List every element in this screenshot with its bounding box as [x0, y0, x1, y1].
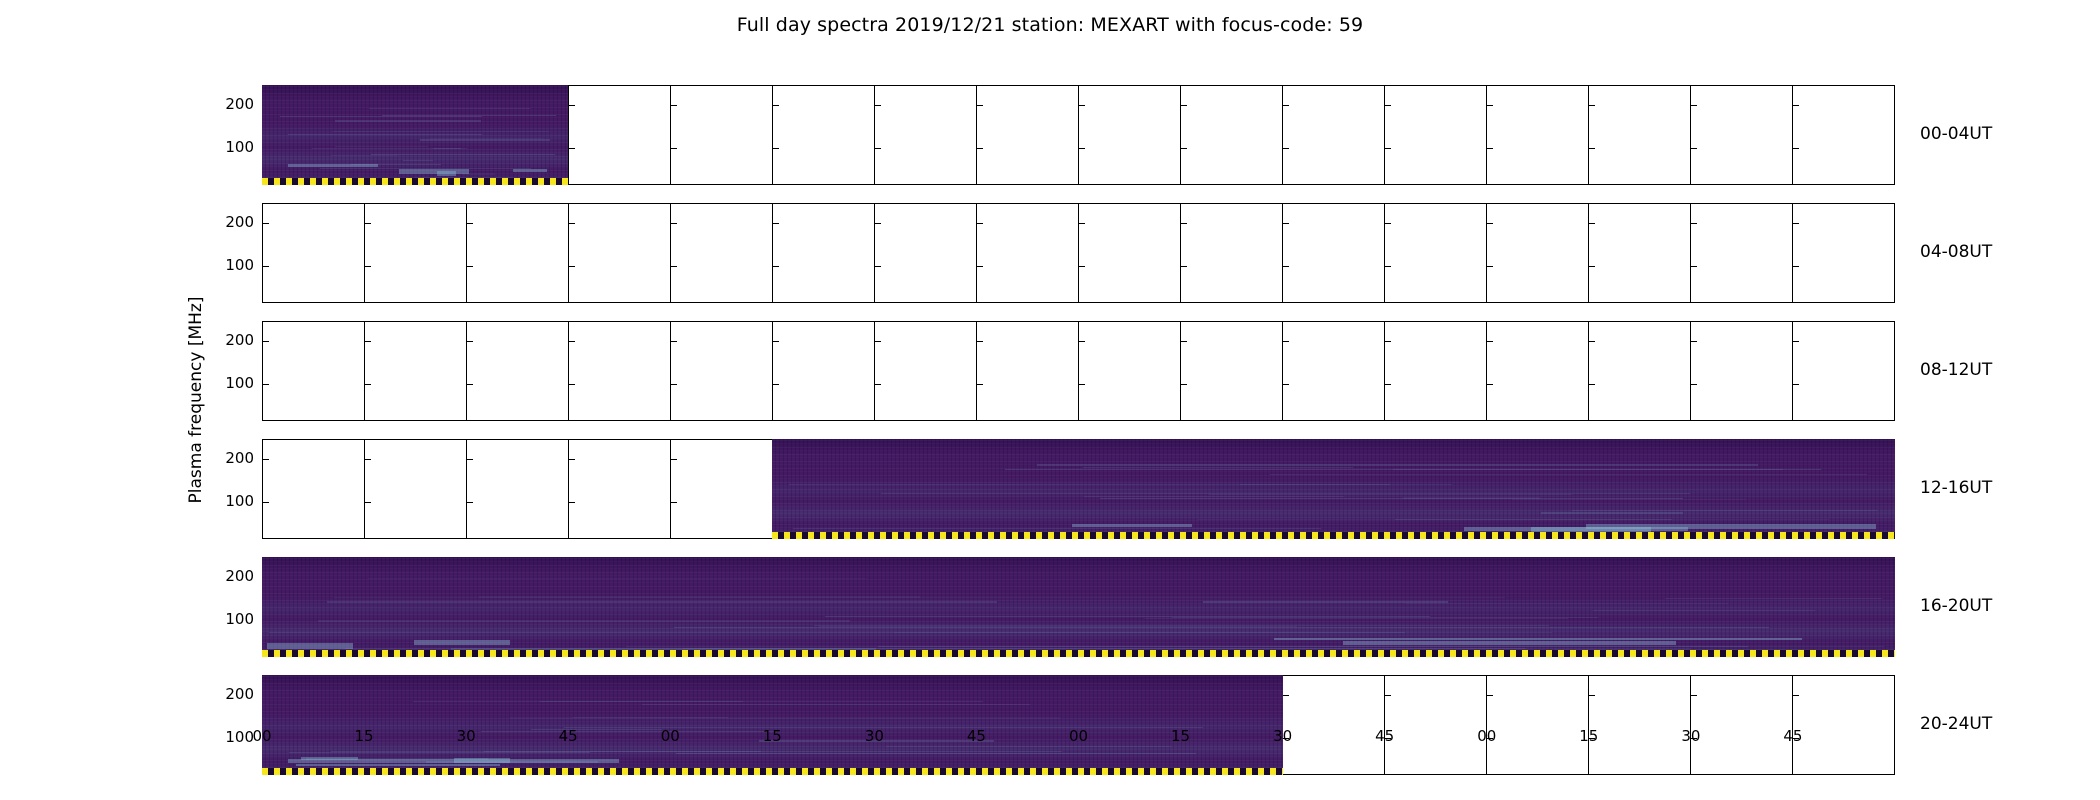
rfi-streaks: [772, 439, 1895, 539]
y-tick-100: [1793, 384, 1799, 385]
x-tick-label: 45: [1365, 727, 1405, 745]
y-tick-100: [1283, 266, 1289, 267]
spectrogram-cell[interactable]: [1384, 85, 1486, 185]
spectrogram-cell[interactable]: [1588, 321, 1690, 421]
spectrogram-cell[interactable]: [1282, 321, 1384, 421]
x-tick-label: 30: [854, 727, 894, 745]
spectrogram-cell[interactable]: [1690, 203, 1792, 303]
spectrogram-cell[interactable]: [772, 85, 874, 185]
spectrogram-cell[interactable]: [262, 203, 364, 303]
spectrogram-cell[interactable]: [568, 439, 670, 539]
spectrogram-cell[interactable]: [1180, 85, 1282, 185]
y-tick-100: [569, 384, 575, 385]
y-tick-100: [365, 502, 371, 503]
spectrogram-cell[interactable]: [1588, 203, 1690, 303]
y-tick-200: [365, 459, 371, 460]
y-tick-200: [671, 223, 677, 224]
spectrogram-cell[interactable]: [1792, 321, 1895, 421]
spectrogram-cell[interactable]: [568, 203, 670, 303]
y-tick-100: [365, 384, 371, 385]
y-tick-100: [1181, 266, 1187, 267]
y-tick-200: [1079, 341, 1085, 342]
y-tick-200: [1691, 105, 1697, 106]
y-tick-200: [773, 105, 779, 106]
y-tick-100: [569, 502, 575, 503]
y-tick-200: [569, 223, 575, 224]
y-tick-200: [671, 459, 677, 460]
spectrogram-cell[interactable]: [670, 439, 772, 539]
spectrogram-cell[interactable]: [1180, 321, 1282, 421]
figure-title: Full day spectra 2019/12/21 station: MEX…: [0, 14, 2100, 36]
y-tick-200: [773, 223, 779, 224]
y-tick-200: [1487, 695, 1493, 696]
row-panels: [262, 203, 1895, 303]
spectrogram-row-12-16ut[interactable]: [262, 439, 1895, 539]
spectrogram-cell[interactable]: [1078, 203, 1180, 303]
y-tick-200: [1283, 695, 1289, 696]
y-tick-100: [1589, 148, 1595, 149]
y-tick-100: [1385, 384, 1391, 385]
row-panels: [262, 321, 1895, 421]
spectrogram-cell[interactable]: [1078, 321, 1180, 421]
y-tick-label: 100: [206, 610, 254, 628]
x-tick-label: 30: [1671, 727, 1711, 745]
spectrogram-cell[interactable]: [1588, 675, 1690, 775]
y-tick-100: [671, 502, 677, 503]
y-tick-200: [365, 223, 371, 224]
y-tick-200: [1181, 223, 1187, 224]
y-axis-label: Plasma frequency [MHz]: [186, 297, 206, 504]
spectrogram-cell[interactable]: [1282, 675, 1384, 775]
y-tick-100: [773, 266, 779, 267]
spectrogram-cell[interactable]: [1486, 203, 1588, 303]
spectrogram-cell[interactable]: [1792, 203, 1895, 303]
spectrogram-cell[interactable]: [1588, 85, 1690, 185]
y-tick-200: [1793, 223, 1799, 224]
spectrogram-cell[interactable]: [772, 321, 874, 421]
y-tick-label: 200: [206, 95, 254, 113]
y-tick-200: [1487, 341, 1493, 342]
x-tick-label: 15: [1569, 727, 1609, 745]
spectrogram-cell[interactable]: [976, 203, 1078, 303]
y-tick-100: [365, 266, 371, 267]
spectrogram-data: [262, 85, 568, 185]
y-tick-200: [1793, 695, 1799, 696]
x-tick-label: 45: [548, 727, 588, 745]
spectrogram-cell[interactable]: [1792, 85, 1895, 185]
spectrogram-cell[interactable]: [874, 85, 976, 185]
y-tick-200: [467, 223, 473, 224]
y-tick-200: [1181, 105, 1187, 106]
y-tick-200: [1589, 341, 1595, 342]
spectrogram-cell[interactable]: [262, 439, 364, 539]
y-tick-label: 200: [206, 685, 254, 703]
y-tick-label: 200: [206, 213, 254, 231]
y-tick-200: [1385, 223, 1391, 224]
x-tick-label: 00: [1467, 727, 1507, 745]
spectrogram-row-00-04ut[interactable]: [262, 85, 1895, 185]
y-tick-200: [1793, 341, 1799, 342]
row-time-label: 08-12UT: [1920, 360, 1992, 380]
x-tick-label: 30: [1263, 727, 1303, 745]
y-tick-200: [1283, 223, 1289, 224]
y-tick-200: [773, 341, 779, 342]
spectrogram-cell[interactable]: [670, 321, 772, 421]
y-tick-100: [1079, 266, 1085, 267]
y-tick-100: [569, 266, 575, 267]
spectrogram-cell[interactable]: [670, 203, 772, 303]
y-tick-200: [875, 105, 881, 106]
y-tick-100: [773, 148, 779, 149]
y-tick-100: [1793, 266, 1799, 267]
spectrogram-cell[interactable]: [976, 85, 1078, 185]
y-tick-label: 100: [206, 374, 254, 392]
baseline-dashed-marker: [262, 178, 568, 185]
y-tick-200: [977, 223, 983, 224]
row-time-label: 12-16UT: [1920, 478, 1992, 498]
spectrogram-cell[interactable]: [466, 321, 568, 421]
spectrogram-cell[interactable]: [1792, 675, 1895, 775]
y-tick-100: [467, 502, 473, 503]
spectrogram-cell[interactable]: [466, 439, 568, 539]
spectrogram-cell[interactable]: [874, 321, 976, 421]
y-tick-100: [1691, 384, 1697, 385]
y-tick-200: [977, 341, 983, 342]
x-tick-label: 00: [650, 727, 690, 745]
y-tick-200: [1181, 341, 1187, 342]
spectrogram-cell[interactable]: [1690, 675, 1792, 775]
y-tick-100: [671, 384, 677, 385]
x-tick-label: 00: [1059, 727, 1099, 745]
y-tick-200: [1283, 341, 1289, 342]
y-tick-100: [467, 384, 473, 385]
spectrogram-cell[interactable]: [568, 85, 670, 185]
y-tick-200: [263, 223, 269, 224]
y-tick-100: [263, 384, 269, 385]
y-tick-100: [263, 266, 269, 267]
y-tick-200: [263, 341, 269, 342]
baseline-dashed-marker: [262, 650, 1895, 657]
spectrogram-cell[interactable]: [1486, 85, 1588, 185]
y-tick-100: [1385, 148, 1391, 149]
spectrogram-cell[interactable]: [568, 321, 670, 421]
y-tick-label: 100: [206, 492, 254, 510]
spectrogram-cell[interactable]: [1690, 85, 1792, 185]
y-tick-100: [1487, 266, 1493, 267]
y-tick-100: [1589, 384, 1595, 385]
y-tick-100: [1691, 266, 1697, 267]
spectrogram-cell[interactable]: [1384, 203, 1486, 303]
y-tick-100: [1283, 148, 1289, 149]
y-tick-200: [977, 105, 983, 106]
y-tick-100: [1487, 148, 1493, 149]
y-tick-200: [1691, 341, 1697, 342]
row-time-label: 00-04UT: [1920, 124, 1992, 144]
y-tick-200: [365, 341, 371, 342]
y-tick-200: [569, 341, 575, 342]
y-tick-200: [1793, 105, 1799, 106]
y-tick-200: [1691, 223, 1697, 224]
y-tick-200: [1691, 695, 1697, 696]
y-tick-100: [977, 266, 983, 267]
spectrogram-cell[interactable]: [364, 321, 466, 421]
y-tick-100: [1079, 384, 1085, 385]
y-tick-200: [1079, 223, 1085, 224]
baseline-dashed-marker: [772, 532, 1895, 539]
y-tick-200: [875, 341, 881, 342]
y-tick-100: [1283, 384, 1289, 385]
spectrogram-cell[interactable]: [364, 203, 466, 303]
y-tick-200: [569, 459, 575, 460]
y-tick-200: [875, 223, 881, 224]
spectrogram-cell[interactable]: [1486, 321, 1588, 421]
y-tick-200: [467, 459, 473, 460]
spectrogram-cell[interactable]: [364, 439, 466, 539]
rfi-streaks: [262, 675, 1283, 775]
y-tick-100: [1589, 266, 1595, 267]
spectrogram-data: [262, 675, 1283, 775]
spectrogram-cell[interactable]: [1282, 203, 1384, 303]
spectrogram-cell[interactable]: [772, 203, 874, 303]
x-tick-label: 15: [344, 727, 384, 745]
spectrogram-cell[interactable]: [1384, 321, 1486, 421]
y-tick-label: 100: [206, 256, 254, 274]
y-tick-200: [569, 105, 575, 106]
y-tick-200: [671, 341, 677, 342]
y-tick-200: [1589, 223, 1595, 224]
y-tick-100: [671, 148, 677, 149]
spectrogram-row-16-20ut[interactable]: [262, 557, 1895, 657]
spectrogram-cell[interactable]: [466, 203, 568, 303]
y-tick-200: [1589, 695, 1595, 696]
spectrogram-cell[interactable]: [262, 321, 364, 421]
spectrogram-cell[interactable]: [1282, 85, 1384, 185]
y-tick-200: [1385, 341, 1391, 342]
spectrogram-cell[interactable]: [1180, 203, 1282, 303]
y-tick-200: [263, 459, 269, 460]
spectrogram-cell[interactable]: [1078, 85, 1180, 185]
y-tick-100: [263, 502, 269, 503]
y-tick-100: [569, 148, 575, 149]
y-tick-100: [1079, 148, 1085, 149]
y-tick-100: [875, 148, 881, 149]
rfi-streaks: [262, 85, 568, 185]
y-tick-100: [467, 266, 473, 267]
y-tick-label: 200: [206, 449, 254, 467]
y-tick-200: [1589, 105, 1595, 106]
spectrogram-row-08-12ut[interactable]: [262, 321, 1895, 421]
y-tick-200: [1079, 105, 1085, 106]
row-time-label: 04-08UT: [1920, 242, 1992, 262]
row-time-label: 20-24UT: [1920, 714, 1992, 734]
y-tick-100: [875, 384, 881, 385]
row-time-label: 16-20UT: [1920, 596, 1992, 616]
x-tick-label: 45: [956, 727, 996, 745]
y-tick-100: [671, 266, 677, 267]
spectrogram-cell[interactable]: [1486, 675, 1588, 775]
y-tick-100: [875, 266, 881, 267]
y-tick-100: [1181, 384, 1187, 385]
y-tick-100: [1385, 266, 1391, 267]
y-tick-200: [1283, 105, 1289, 106]
spectrogram-data: [772, 439, 1895, 539]
spectrogram-row-04-08ut[interactable]: [262, 203, 1895, 303]
y-tick-100: [977, 148, 983, 149]
x-tick-label: 30: [446, 727, 486, 745]
y-tick-label: 200: [206, 331, 254, 349]
spectrogram-cell[interactable]: [874, 203, 976, 303]
spectrogram-cell[interactable]: [1384, 675, 1486, 775]
y-tick-200: [1385, 105, 1391, 106]
y-tick-200: [1487, 223, 1493, 224]
y-tick-200: [1385, 695, 1391, 696]
y-tick-200: [1487, 105, 1493, 106]
y-tick-100: [1487, 384, 1493, 385]
spectrogram-cell[interactable]: [976, 321, 1078, 421]
x-tick-label: 45: [1773, 727, 1813, 745]
y-tick-label: 200: [206, 567, 254, 585]
y-tick-100: [1691, 148, 1697, 149]
x-tick-label: 15: [752, 727, 792, 745]
y-tick-100: [977, 384, 983, 385]
spectrogram-cell[interactable]: [670, 85, 772, 185]
spectrogram-data: [262, 557, 1895, 657]
x-tick-label: 15: [1161, 727, 1201, 745]
spectrogram-figure: Full day spectra 2019/12/21 station: MEX…: [0, 0, 2100, 800]
spectrogram-cell[interactable]: [1690, 321, 1792, 421]
rfi-streaks: [262, 557, 1895, 657]
y-tick-label: 100: [206, 138, 254, 156]
y-tick-200: [671, 105, 677, 106]
y-tick-100: [773, 384, 779, 385]
y-tick-100: [1181, 148, 1187, 149]
baseline-dashed-marker: [262, 768, 1283, 775]
spectrogram-row-20-24ut[interactable]: [262, 675, 1895, 775]
y-tick-label: 100: [206, 728, 254, 746]
y-tick-200: [467, 341, 473, 342]
y-tick-100: [1793, 148, 1799, 149]
